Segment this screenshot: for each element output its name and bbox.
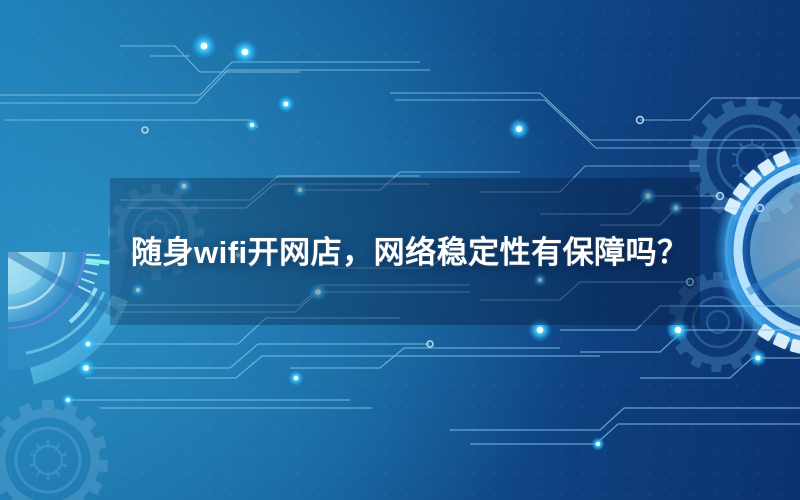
- page-title: 随身wifi开网店，网络稳定性有保障吗？: [131, 237, 689, 268]
- headline-container: 随身wifi开网店，网络稳定性有保障吗？: [0, 222, 800, 282]
- circuit-traces-top: [0, 46, 800, 148]
- tech-banner: 随身wifi开网店，网络稳定性有保障吗？: [0, 0, 800, 500]
- circuit-traces-bottom: [68, 306, 800, 444]
